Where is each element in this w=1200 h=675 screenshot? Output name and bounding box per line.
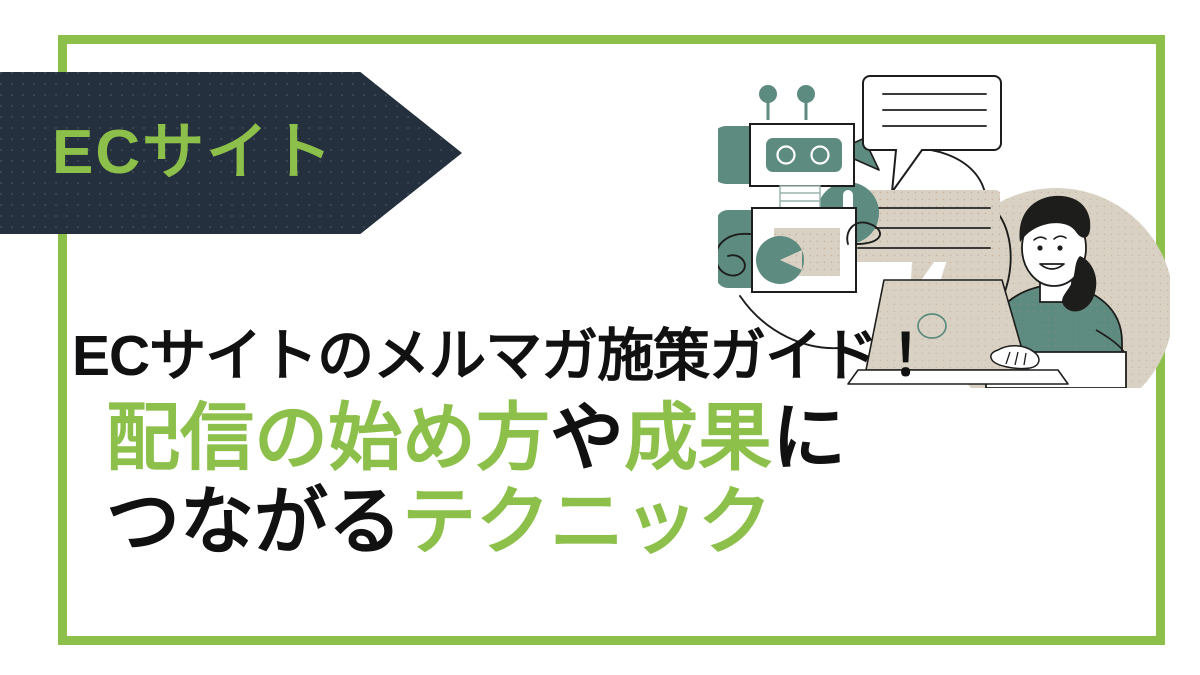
speech-bubble-white bbox=[863, 76, 1001, 192]
headline-line-3: つながるテクニック bbox=[106, 485, 1082, 559]
headline-line-2-black-1: や bbox=[550, 396, 624, 479]
headline-line-3-green-1: テクニック bbox=[402, 480, 772, 563]
banner-canvas: ECサイト ECサイトのメルマガ施策ガイド！ 配信の始め方や成果に つながるテク… bbox=[0, 0, 1200, 675]
headline-line-1: ECサイトのメルマガ施策ガイド！ bbox=[72, 328, 1082, 385]
headline-line-2-green-2: 成果 bbox=[624, 396, 772, 479]
headline-line-2-green-1: 配信の始め方 bbox=[106, 396, 550, 479]
headline-block: ECサイトのメルマガ施策ガイド！ 配信の始め方や成果に つながるテクニック bbox=[72, 328, 1082, 559]
category-ribbon: ECサイト bbox=[0, 72, 462, 234]
headline-line-3-black-1: つながる bbox=[106, 480, 402, 563]
headline-line-2-black-2: に bbox=[772, 396, 846, 479]
ribbon-label: ECサイト bbox=[52, 122, 334, 184]
headline-line-2: 配信の始め方や成果に bbox=[106, 401, 1082, 475]
headline-line-1-text: ECサイトのメルマガ施策ガイド！ bbox=[72, 324, 933, 388]
